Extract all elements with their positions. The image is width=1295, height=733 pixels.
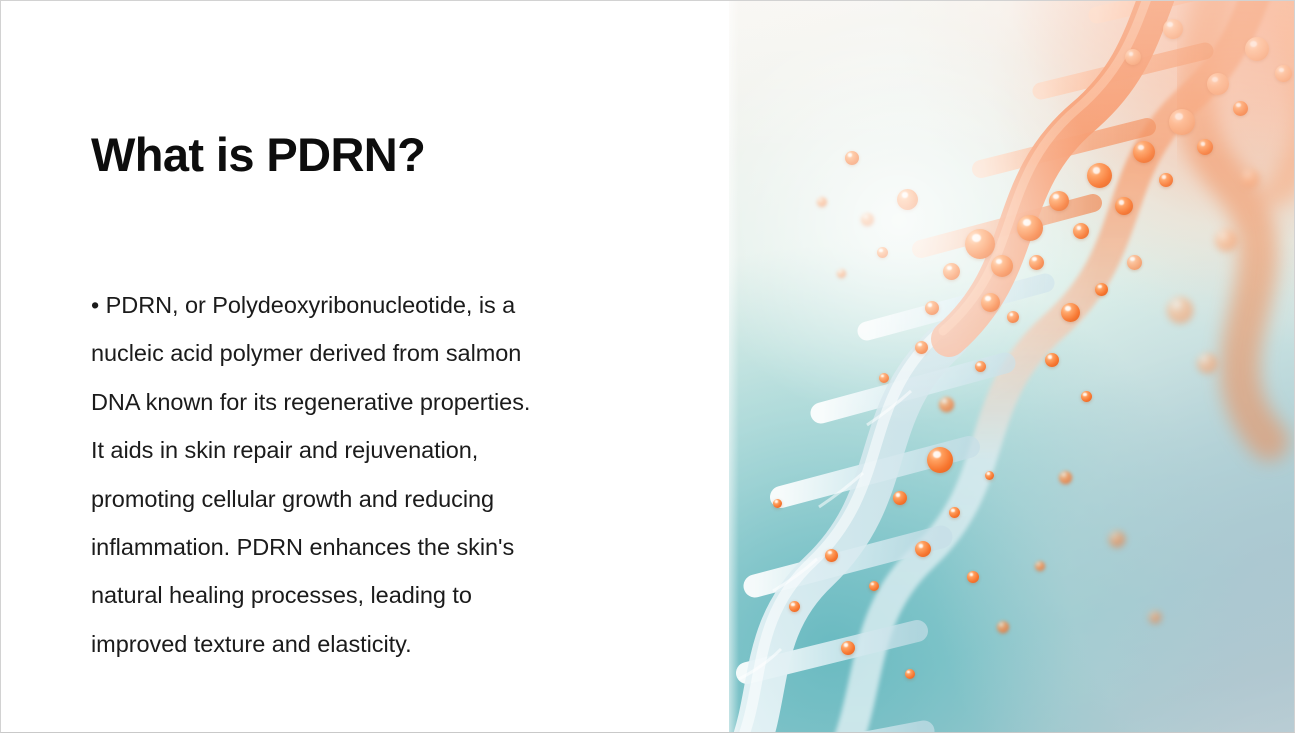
body-line: nucleic acid polymer derived from salmon — [91, 340, 521, 366]
page-title: What is PDRN? — [91, 129, 425, 182]
body-line: • PDRN, or Polydeoxyribonucleotide, is a — [91, 292, 515, 318]
dna-helix-graphic — [729, 1, 1295, 733]
slide: What is PDRN? • PDRN, or Polydeoxyribonu… — [0, 0, 1295, 733]
text-pane: What is PDRN? • PDRN, or Polydeoxyribonu… — [1, 1, 729, 732]
body-line: DNA known for its regenerative propertie… — [91, 389, 530, 415]
body-line: inflammation. PDRN enhances the skin's — [91, 534, 514, 560]
body-line: improved texture and elasticity. — [91, 631, 412, 657]
body-line: promoting cellular growth and reducing — [91, 486, 494, 512]
dna-double-helix-illustration — [729, 1, 1295, 733]
body-line: natural healing processes, leading to — [91, 582, 472, 608]
body-paragraph: • PDRN, or Polydeoxyribonucleotide, is a… — [91, 281, 651, 668]
body-line: It aids in skin repair and rejuvenation, — [91, 437, 478, 463]
